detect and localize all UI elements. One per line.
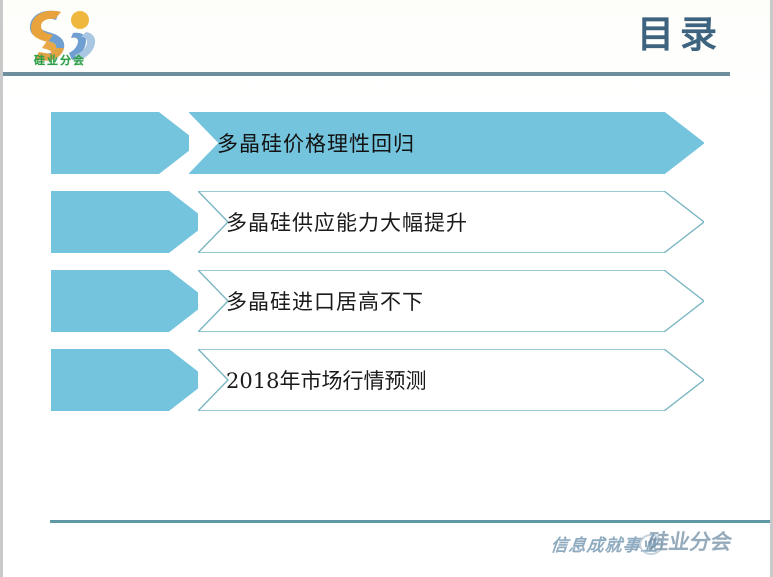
list-item[interactable]: 多晶硅价格理性回归 <box>3 112 773 174</box>
slide-header: 硅业分会 目录 <box>3 0 773 78</box>
contents-list: 多晶硅价格理性回归 多晶硅供应能力大幅提升 多晶硅进口居高不下 <box>3 112 773 428</box>
list-item-body: 多晶硅进口居高不下 <box>198 270 704 332</box>
list-item-label: 多晶硅供应能力大幅提升 <box>198 191 468 253</box>
slide: 硅业分会 目录 多晶硅价格理性回归 多晶硅供应能力大幅提升 <box>0 0 773 577</box>
logo-caption: 硅业分会 <box>17 52 103 68</box>
chevron-tab-icon <box>51 112 199 174</box>
chevron-tab-icon <box>51 349 209 411</box>
list-item-label: 多晶硅进口居高不下 <box>198 270 424 332</box>
list-item-body: 2018年市场行情预测 <box>198 349 704 411</box>
footer-divider <box>50 520 773 523</box>
list-item[interactable]: 多晶硅供应能力大幅提升 <box>3 191 773 253</box>
list-item[interactable]: 2018年市场行情预测 <box>3 349 773 411</box>
chevron-tab-icon <box>51 191 209 253</box>
chevron-tab-icon <box>51 270 209 332</box>
page-title: 目录 <box>637 16 723 53</box>
list-item-label: 多晶硅价格理性回归 <box>189 112 415 174</box>
list-item-body: 多晶硅价格理性回归 <box>189 112 704 174</box>
list-item[interactable]: 多晶硅进口居高不下 <box>3 270 773 332</box>
list-item-body: 多晶硅供应能力大幅提升 <box>198 191 704 253</box>
footer-watermark: 硅业分会 <box>646 526 735 556</box>
header-divider <box>3 72 730 76</box>
list-item-label: 2018年市场行情预测 <box>198 349 426 411</box>
